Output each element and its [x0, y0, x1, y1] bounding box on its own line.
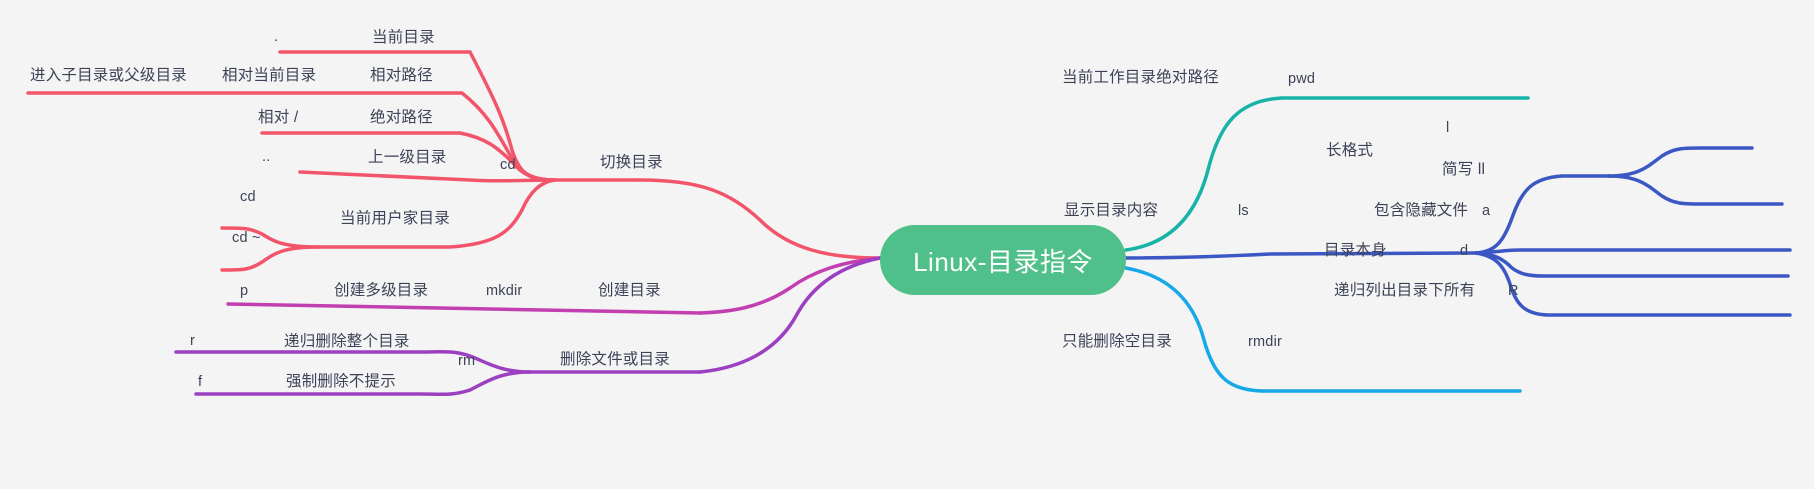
node-dotdot-leaf[interactable]: ..: [262, 150, 270, 165]
node-option-l[interactable]: l: [1446, 121, 1449, 136]
node-directory-itself[interactable]: 目录本身: [1324, 243, 1387, 259]
node-dot-leaf[interactable]: .: [274, 30, 278, 45]
node-recursive-delete-directory[interactable]: 递归删除整个目录: [284, 334, 410, 350]
edge-long-ll: [1608, 176, 1782, 204]
node-recursive-list-all[interactable]: 递归列出目录下所有: [1334, 283, 1475, 299]
node-option-R[interactable]: R: [1508, 284, 1519, 299]
node-rmdir-command[interactable]: rmdir: [1248, 335, 1282, 350]
edge-ls-dirself: [1476, 253, 1788, 276]
node-force-delete-no-prompt[interactable]: 强制删除不提示: [286, 374, 396, 390]
node-cd-command[interactable]: cd: [500, 158, 516, 173]
edge-home-cdtilde: [222, 247, 318, 270]
node-create-multilevel-directory[interactable]: 创建多级目录: [334, 283, 428, 299]
node-relative-current-dir[interactable]: 相对当前目录: [222, 68, 316, 84]
node-p-option[interactable]: p: [240, 284, 248, 299]
edge-root-rm: [700, 258, 880, 372]
root-node[interactable]: Linux-目录指令: [880, 225, 1126, 295]
edge-root-mkdir: [700, 258, 880, 313]
edge-root-cd: [640, 180, 880, 258]
edge-root-ls: [1126, 253, 1476, 258]
node-home-directory[interactable]: 当前用户家目录: [340, 211, 450, 227]
node-pwd-command[interactable]: pwd: [1288, 72, 1315, 87]
root-node-label: Linux-目录指令: [913, 242, 1093, 279]
node-ls-command[interactable]: ls: [1238, 204, 1249, 219]
node-option-d[interactable]: d: [1460, 244, 1468, 259]
edge-root-pwd: [1126, 98, 1282, 250]
edge-ls-hidden: [1476, 250, 1790, 253]
node-mkdir-command[interactable]: mkdir: [486, 284, 522, 299]
node-cd-leaf[interactable]: cd: [240, 190, 256, 205]
node-switch-directory[interactable]: 切换目录: [600, 155, 663, 171]
edge-cd-parent: [300, 172, 555, 181]
node-absolute-path[interactable]: 绝对路径: [370, 110, 433, 126]
edge-root-rmdir: [1126, 268, 1262, 391]
node-r-option[interactable]: r: [190, 334, 195, 349]
mindmap-canvas: Linux-目录指令 切换目录 cd 当前目录 . 相对路径 相对当前目录 进入…: [0, 0, 1814, 489]
node-option-ll-shorthand[interactable]: 简写 ll: [1442, 162, 1485, 178]
edge-ls-longformat: [1476, 176, 1608, 253]
node-enter-sub-or-parent-dir[interactable]: 进入子目录或父级目录: [30, 68, 187, 84]
edge-cd-relpath: [28, 93, 555, 180]
node-ls-description[interactable]: 显示目录内容: [1064, 203, 1158, 219]
node-cd-tilde-leaf[interactable]: cd ~: [232, 231, 261, 246]
node-f-option[interactable]: f: [198, 375, 202, 390]
edge-ls-recursive: [1476, 253, 1790, 315]
node-option-a[interactable]: a: [1482, 204, 1490, 219]
node-long-format[interactable]: 长格式: [1326, 143, 1373, 159]
node-rmdir-description[interactable]: 只能删除空目录: [1062, 334, 1172, 350]
node-delete-file-or-directory[interactable]: 删除文件或目录: [560, 352, 670, 368]
node-create-directory[interactable]: 创建目录: [598, 283, 661, 299]
edge-rm-recursive: [176, 352, 530, 372]
edge-mkdir-trunk: [228, 304, 700, 313]
node-include-hidden-files[interactable]: 包含隐藏文件: [1374, 203, 1468, 219]
node-current-directory[interactable]: 当前目录: [372, 30, 435, 46]
node-pwd-description[interactable]: 当前工作目录绝对路径: [1062, 70, 1219, 86]
node-relative-path[interactable]: 相对路径: [370, 68, 433, 84]
node-relative-slash[interactable]: 相对 /: [258, 110, 298, 126]
node-parent-directory[interactable]: 上一级目录: [368, 150, 447, 166]
edge-long-l: [1608, 148, 1752, 176]
node-rm-command[interactable]: rm: [458, 354, 475, 369]
